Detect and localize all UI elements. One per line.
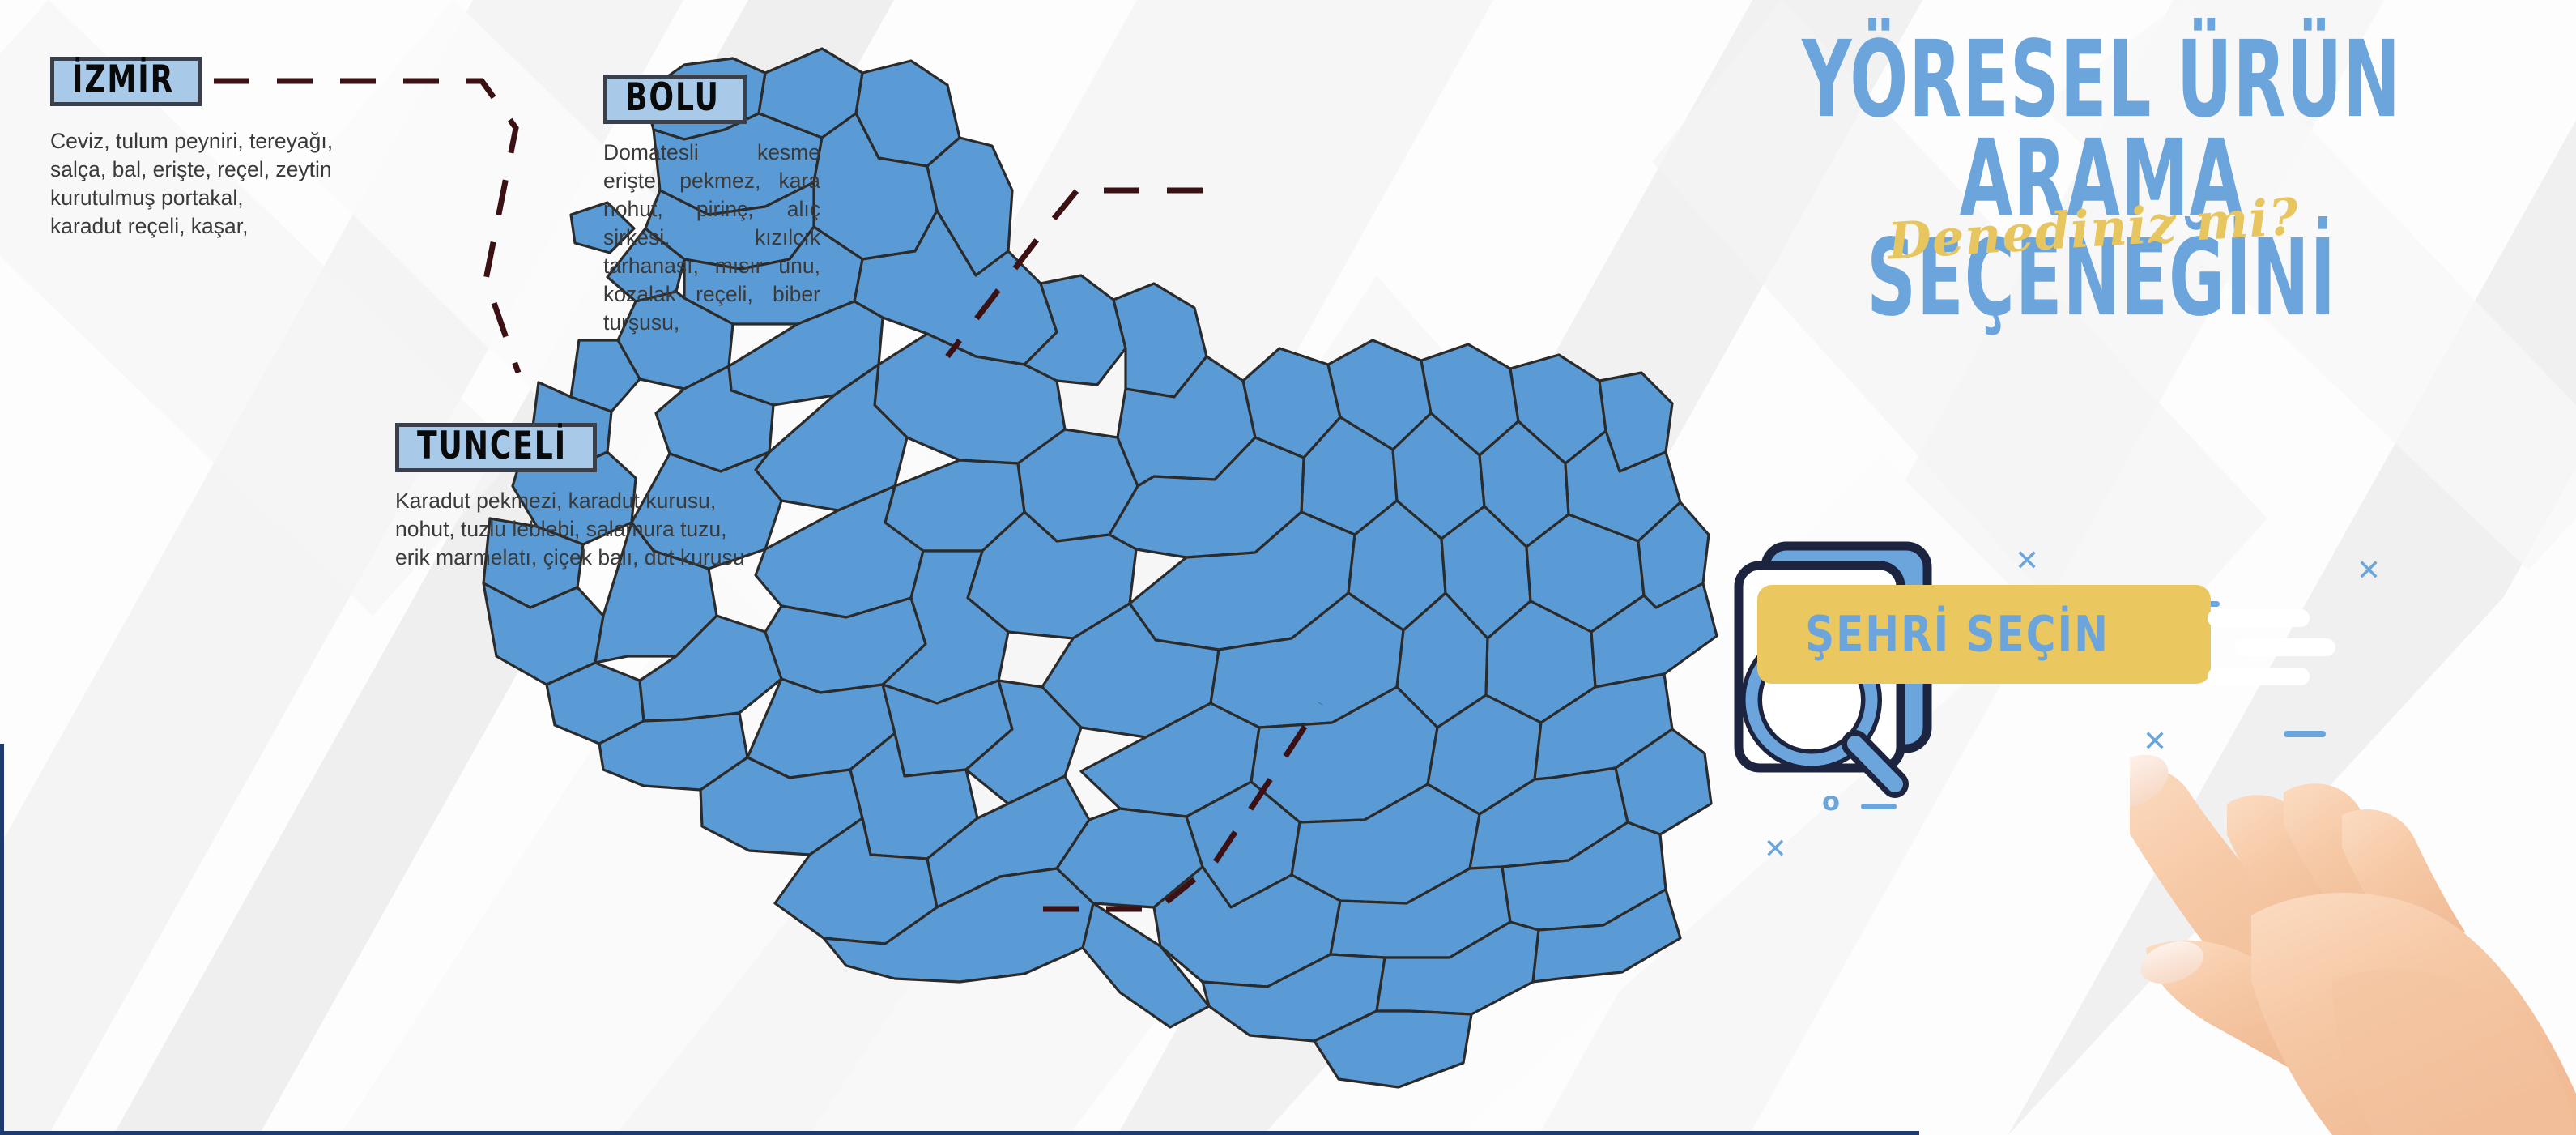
callout-product-list: Domatesli kesme erişte, pekmez, kara noh…: [603, 139, 820, 337]
bottom-edge-rule: [0, 1131, 1919, 1135]
city-tag-tunceli[interactable]: TUNCELİ: [395, 423, 597, 472]
left-edge-rule: [0, 744, 4, 1135]
hand-svg: [2130, 713, 2576, 1135]
city-tag-label: TUNCELİ: [417, 426, 567, 467]
headline-line-1: YÖRESEL ÜRÜN: [1696, 31, 2508, 130]
callout-product-list: Karadut pekmezi, karadut kurusu, nohut, …: [395, 487, 745, 572]
city-tag-bolu[interactable]: BOLU: [603, 75, 747, 124]
poster-canvas: İZMİR Ceviz, tulum peyniri, tereyağı, sa…: [0, 0, 2576, 1135]
select-city-label: ŞEHRİ SEÇİN: [1805, 606, 2110, 664]
cta-dash-2: [2235, 638, 2335, 656]
city-tag-label: İZMİR: [72, 60, 174, 100]
callout-izmir[interactable]: İZMİR Ceviz, tulum peyniri, tereyağı, sa…: [50, 57, 333, 241]
callout-bolu[interactable]: BOLU Domatesli kesme erişte, pekmez, kar…: [603, 75, 820, 337]
cta-dash-3: [2208, 668, 2310, 685]
city-tag-label: BOLU: [625, 78, 720, 118]
city-tag-izmir[interactable]: İZMİR: [50, 57, 202, 106]
callout-product-list: Ceviz, tulum peyniri, tereyağı, salça, b…: [50, 127, 333, 241]
pointing-hand-icon: [2130, 713, 2576, 1135]
cta-dash-1: [2208, 609, 2310, 627]
select-city-button[interactable]: ŞEHRİ SEÇİN: [1757, 585, 2211, 684]
callout-tunceli[interactable]: TUNCELİ Karadut pekmezi, karadut kurusu,…: [395, 423, 745, 572]
